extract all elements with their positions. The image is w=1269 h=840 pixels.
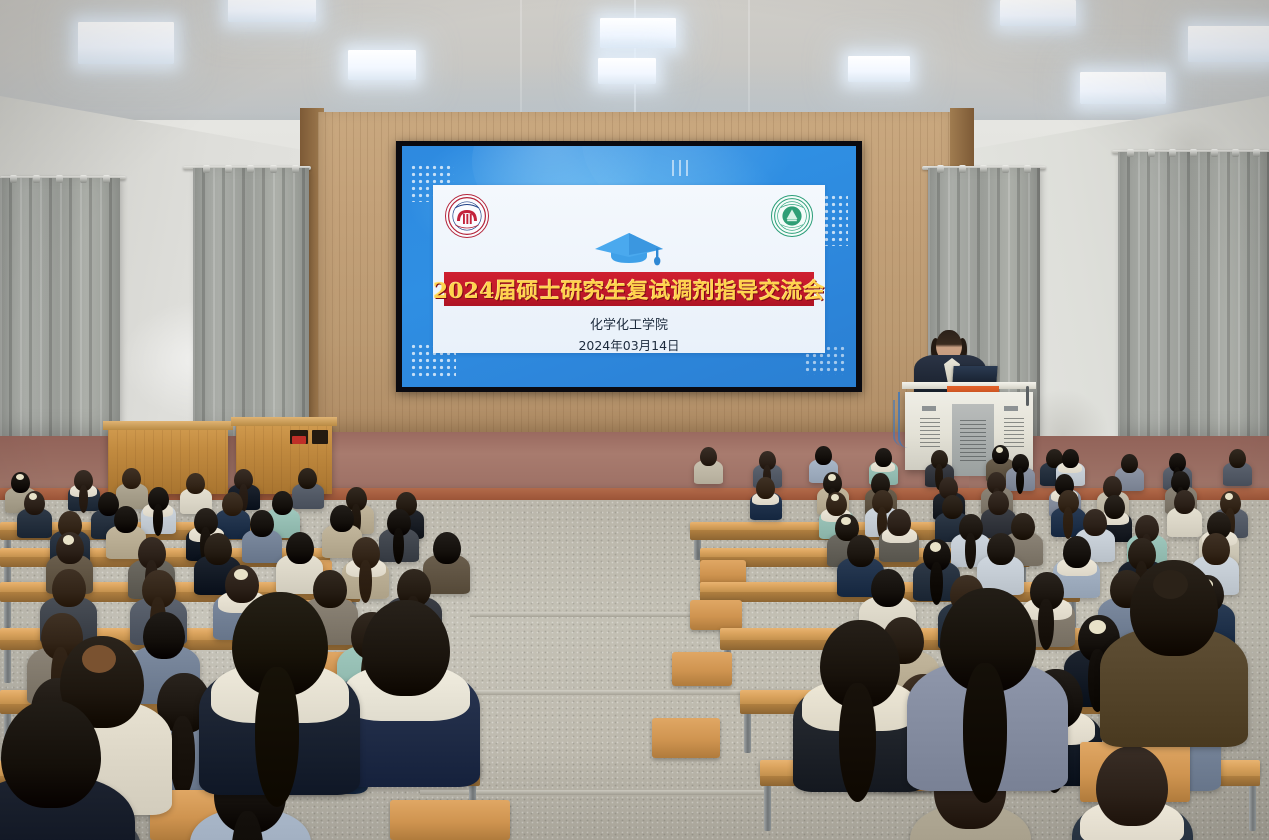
projected-slide: 2024届硕士研究生复试调剂指导交流会 化学化工学院 2024年03月14日: [402, 146, 856, 387]
audience-member-head: [362, 600, 450, 696]
audience-member: [940, 588, 1036, 788]
mic-stand: [1026, 386, 1029, 406]
audience-member: [362, 600, 450, 784]
audience-member-head: [433, 532, 461, 564]
audience-member-ponytail: [839, 683, 876, 802]
audience-member-hair-clip: [841, 517, 851, 525]
audience-member-ponytail: [1063, 507, 1073, 539]
podium-latch-left: [922, 406, 936, 411]
audience-member: [959, 514, 983, 565]
audience-member-hair-clip: [29, 493, 37, 500]
audience-member-hair-clip: [1089, 620, 1106, 634]
audience-member-ponytail: [153, 504, 163, 536]
ceiling-light: [1080, 72, 1166, 104]
ceiling-light: [1188, 26, 1269, 62]
audience-member-ponytail: [965, 533, 976, 569]
desk-front-edge: [720, 640, 1140, 650]
audience-member-head: [286, 532, 314, 564]
audience-member: [114, 506, 138, 557]
student-desk: [720, 628, 1140, 641]
audience-member: [250, 510, 274, 561]
audience-member-head: [1174, 490, 1195, 514]
chair-back: [690, 600, 742, 630]
audience-member: [1058, 490, 1079, 535]
audience-member-head: [1104, 495, 1125, 519]
audience-member: [820, 620, 900, 788]
audience-member: [1130, 560, 1218, 744]
audience-member-head: [250, 510, 274, 537]
audience-member-head: [186, 473, 205, 494]
audience-member-ponytail: [963, 663, 1007, 803]
audience-member-hair-clip: [930, 542, 941, 552]
audience-member-head: [204, 533, 232, 565]
audience-member-head: [143, 612, 185, 659]
curtain-far-right: [1118, 152, 1269, 442]
audience-member-head: [1062, 449, 1079, 468]
audience-member-head: [875, 448, 892, 467]
audience-member: [298, 468, 317, 508]
audience-member-head: [1096, 746, 1168, 826]
audience-member: [352, 537, 380, 597]
curtain-rings: [930, 165, 1038, 173]
audience-member-head: [847, 535, 875, 567]
audience-member: [1121, 454, 1138, 490]
audience-member-hair-clip: [234, 569, 248, 580]
audience-member-ponytail: [393, 528, 404, 564]
audience-member-head: [330, 505, 354, 532]
podium-vent-center: [960, 420, 986, 464]
aisle-step: [450, 690, 749, 695]
audience-member-head: [222, 492, 243, 516]
slide-subtitle-date: 2024年03月14日: [433, 335, 825, 354]
audience-member: [700, 447, 717, 483]
audience-member-head: [987, 533, 1015, 565]
curtain-left: [193, 168, 309, 440]
audience-member-head: [988, 491, 1009, 515]
audience-member-hair-clip: [16, 474, 24, 480]
audience-member-hair-clip: [82, 645, 116, 673]
audience-member: [330, 505, 354, 556]
cabinet-top: [103, 421, 233, 430]
audience-member-head: [700, 447, 717, 466]
audience-member: [74, 470, 93, 510]
audience-member: [232, 592, 328, 792]
ceiling-light: [228, 0, 316, 22]
ceiling-light: [848, 56, 910, 82]
audience-member-head: [887, 509, 911, 536]
graduation-cap-icon: [433, 225, 825, 269]
audience-member-head: [815, 446, 832, 465]
audience-member-head: [52, 569, 86, 607]
slide-subtitle-org: 化学化工学院: [433, 314, 825, 333]
ceiling-light: [78, 22, 174, 64]
audience-member-head: [272, 491, 293, 515]
audience-member-head: [1083, 509, 1107, 536]
audience-member: [1174, 490, 1195, 535]
audience-member: [1063, 536, 1091, 596]
audience-member: [387, 509, 411, 560]
audience-member-ponytail: [255, 667, 299, 807]
audience-member-ponytail: [1038, 599, 1054, 650]
audience-member: [988, 491, 1009, 536]
audience-member: [24, 491, 45, 536]
audience-member: [272, 491, 293, 536]
audience-member: [987, 533, 1015, 593]
curtain-rings: [2, 175, 118, 183]
chair-back: [390, 800, 510, 840]
audience-member-head: [756, 477, 775, 499]
audience-member: [433, 532, 461, 592]
audience-member-ponytail: [1016, 468, 1024, 494]
audience-member: [887, 509, 911, 560]
lecture-hall-photo: 2024届硕士研究生复试调剂指导交流会 化学化工学院 2024年03月14日: [0, 0, 1269, 840]
chair-back: [672, 652, 732, 686]
curtain-rings: [1120, 149, 1267, 157]
podium-cable: [893, 400, 903, 446]
ceiling-light: [598, 58, 656, 84]
audience-member-hair-clip: [996, 447, 1003, 453]
chair-back: [652, 718, 720, 758]
audience-member-head: [122, 468, 141, 489]
audience-member: [186, 473, 205, 513]
cabinet-red-item: [292, 436, 306, 444]
audience-member-head: [1063, 536, 1091, 568]
audience-member-hair-clip: [828, 474, 836, 481]
audience-member: [756, 477, 775, 518]
podium-latch-right: [1004, 406, 1018, 411]
cabinet-top: [231, 417, 337, 426]
podium-vent-right: [1004, 418, 1024, 448]
audience-member: [1229, 449, 1246, 485]
audience-member-head: [298, 468, 317, 489]
slide-decor-lines: [672, 160, 688, 176]
audience-member-ponytail: [170, 716, 195, 797]
audience-member: [148, 487, 169, 532]
podium-vent-left: [920, 418, 940, 448]
audience-member-head: [1121, 454, 1138, 473]
curtain-rings: [195, 165, 307, 173]
audience-member-head: [1, 700, 101, 808]
ceiling-light: [348, 50, 416, 80]
projection-screen-frame: 2024届硕士研究生复试调剂指导交流会 化学化工学院 2024年03月14日: [396, 141, 862, 392]
slide-title-text: 2024届硕士研究生复试调剂指导交流会: [433, 274, 825, 305]
slide-title-banner: 2024届硕士研究生复试调剂指导交流会: [444, 272, 814, 306]
ceiling-light: [600, 18, 676, 48]
audience-member: [222, 492, 243, 537]
audience-member-hair-clip: [1153, 570, 1188, 599]
audience-member-head: [871, 569, 905, 607]
slide-content-card: 2024届硕士研究生复试调剂指导交流会 化学化工学院 2024年03月14日: [433, 185, 825, 353]
audience-member: [286, 532, 314, 592]
audience-member-hair-clip: [831, 494, 839, 501]
audience-member-hair-clip: [63, 535, 74, 545]
audience-member-ponytail: [79, 485, 88, 513]
audience-member-hair-clip: [1225, 493, 1233, 500]
audience-member-head: [114, 506, 138, 533]
curtain-far-left: [0, 178, 120, 440]
audience-member: [122, 468, 141, 508]
audience-member-head: [1229, 449, 1246, 468]
audience-member: [1012, 454, 1029, 490]
audience-member: [1, 700, 101, 840]
audience-member-ponytail: [359, 560, 372, 603]
audience-member: [1096, 746, 1168, 840]
ceiling-light: [1000, 0, 1076, 26]
cabinet-cubby: [312, 430, 328, 444]
